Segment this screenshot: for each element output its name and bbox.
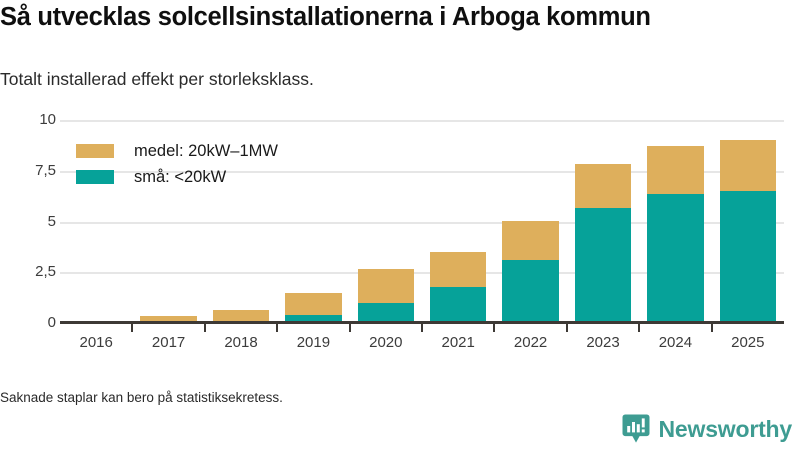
x-axis-tick-label: 2024	[639, 334, 711, 351]
bar-segment[interactable]	[502, 260, 558, 323]
x-axis-tick-label: 2018	[205, 334, 277, 351]
bar-segment[interactable]	[358, 303, 414, 323]
bar-segment[interactable]	[430, 252, 486, 288]
brand-name: Newsworthy	[659, 416, 792, 443]
x-axis-tick-label: 2017	[133, 334, 205, 351]
footnote: Saknade staplar kan bero på statistiksek…	[0, 390, 283, 405]
x-axis-tick-label: 2019	[277, 334, 349, 351]
newsworthy-logo[interactable]: Newsworthy	[622, 414, 792, 444]
x-axis-tick-label: 2025	[712, 334, 784, 351]
bar-group[interactable]	[575, 120, 631, 323]
legend-swatch	[76, 170, 114, 184]
bar-segment[interactable]	[502, 221, 558, 261]
y-axis-tick-label: 5	[4, 213, 56, 230]
bar-segment[interactable]	[575, 208, 631, 323]
legend-label: medel: 20kW–1MW	[134, 142, 278, 161]
x-axis-tick-mark	[711, 324, 713, 332]
bar-group[interactable]	[430, 120, 486, 323]
legend-label: små: <20kW	[134, 168, 226, 187]
legend-swatch	[76, 144, 114, 158]
legend-item[interactable]: små: <20kW	[76, 164, 278, 190]
x-axis-tick-mark	[276, 324, 278, 332]
x-axis-tick-label: 2016	[60, 334, 132, 351]
bar-group[interactable]	[358, 120, 414, 323]
bar-segment[interactable]	[430, 287, 486, 323]
chart-bubble-icon	[622, 414, 650, 444]
x-axis-tick-mark	[493, 324, 495, 332]
y-axis-tick-label: 10	[4, 111, 56, 128]
x-axis-tick-label: 2023	[567, 334, 639, 351]
bar-group[interactable]	[720, 120, 776, 323]
bar-segment[interactable]	[647, 146, 703, 194]
y-axis-tick-label: 7,5	[4, 162, 56, 179]
chart-subtitle: Totalt installerad effekt per storlekskl…	[0, 68, 700, 90]
x-axis-tick-mark	[131, 324, 133, 332]
bar-segment[interactable]	[647, 194, 703, 323]
bar-group[interactable]	[285, 120, 341, 323]
page-title: Så utvecklas solcellsinstallationerna i …	[0, 2, 800, 32]
chart-page: Så utvecklas solcellsinstallationerna i …	[0, 0, 800, 450]
x-axis-tick-mark	[421, 324, 423, 332]
chart-legend: medel: 20kW–1MWsmå: <20kW	[76, 138, 278, 190]
x-axis-tick-mark	[638, 324, 640, 332]
y-axis-tick-label: 0	[4, 314, 56, 331]
x-axis-tick-mark	[349, 324, 351, 332]
x-axis-tick-label: 2021	[422, 334, 494, 351]
bar-group[interactable]	[502, 120, 558, 323]
x-axis-tick-mark	[204, 324, 206, 332]
bar-segment[interactable]	[575, 164, 631, 209]
bar-segment[interactable]	[285, 293, 341, 315]
x-axis-tick-label: 2022	[495, 334, 567, 351]
bar-segment[interactable]	[720, 140, 776, 191]
x-axis-tick-label: 2020	[350, 334, 422, 351]
bar-segment[interactable]	[720, 191, 776, 323]
y-axis-tick-label: 2,5	[4, 263, 56, 280]
bar-segment[interactable]	[358, 269, 414, 302]
legend-item[interactable]: medel: 20kW–1MW	[76, 138, 278, 164]
bar-group[interactable]	[647, 120, 703, 323]
x-axis-tick-mark	[566, 324, 568, 332]
